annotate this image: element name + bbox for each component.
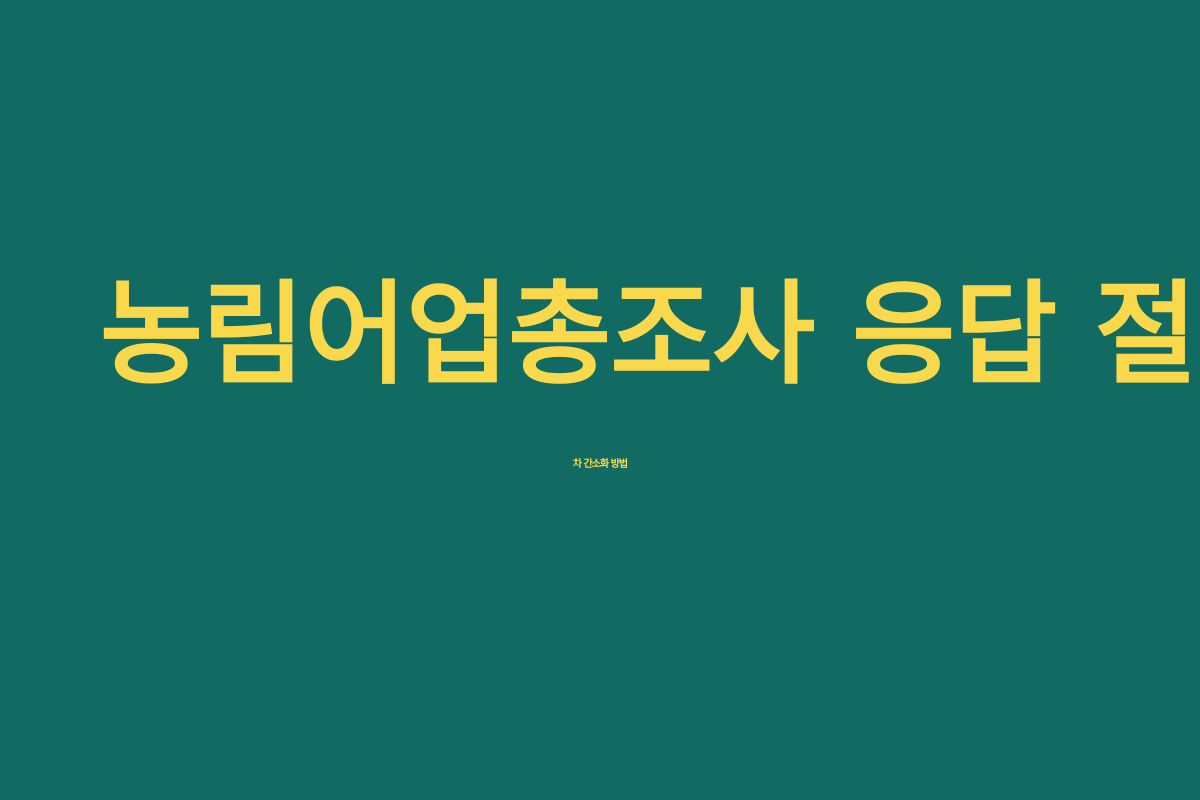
title-line-1: 농림어업총조사 응답 절 [100,270,1100,400]
page-title: 농림어업총조사 응답 절 차 간소화 방법 [80,270,1120,530]
title-line-2: 차 간소화 방법 [100,400,1100,530]
title-banner: 농림어업총조사 응답 절 차 간소화 방법 [0,0,1200,800]
